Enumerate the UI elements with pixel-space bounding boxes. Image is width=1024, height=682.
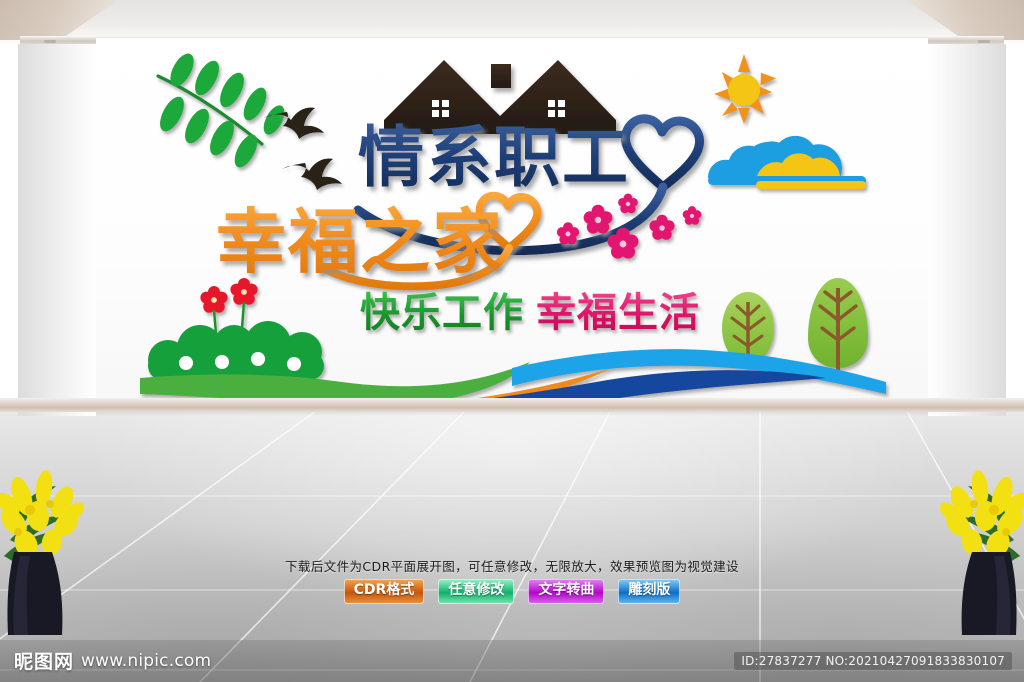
red-flower-icon: [200, 278, 257, 334]
headline-text: 情系职工: [358, 119, 630, 196]
badge-cdr-format[interactable]: CDR格式: [344, 579, 425, 604]
screenshot-stage: 情系职工 幸福之家 快乐工作 幸福生活: [0, 0, 1024, 682]
yellow-flowers: [0, 469, 88, 562]
wall-base-rail: [0, 398, 1024, 412]
badge-engraved[interactable]: 雕刻版: [618, 579, 680, 604]
svg-text:幸福之家: 幸福之家: [216, 201, 504, 283]
flower-vase-left-graphic: [0, 460, 108, 635]
subhead-text: 幸福之家: [216, 201, 504, 283]
yellow-flowers: [936, 469, 1024, 562]
flower-vase-right-graphic: [916, 460, 1024, 635]
rail-fastener: [978, 40, 990, 43]
slogan-pink-text: 幸福生活: [536, 290, 700, 336]
wall-artwork: 情系职工 幸福之家 快乐工作 幸福生活: [96, 38, 928, 410]
leaf-branch-icon: [155, 50, 288, 171]
sun-icon: [714, 54, 776, 124]
site-logo[interactable]: 昵图网 www.nipic.com: [14, 647, 211, 674]
wall-pier-left: [18, 44, 96, 416]
svg-text:快乐工作: 快乐工作: [360, 290, 524, 336]
watermark-bar: 昵图网 www.nipic.com ID:27837277 NO:2021042…: [0, 640, 1024, 682]
svg-text:情系职工: 情系职工: [358, 119, 630, 196]
image-id-label: ID:27837277 NO:20210427091833830107: [734, 652, 1012, 670]
badge-editable[interactable]: 任意修改: [438, 579, 514, 604]
flower-vase: [916, 460, 1024, 640]
badge-text-curves[interactable]: 文字转曲: [528, 579, 604, 604]
rail-fastener: [44, 40, 56, 43]
bush-icon: [148, 321, 324, 380]
tree-icon: [808, 278, 868, 374]
site-url: www.nipic.com: [81, 651, 211, 671]
cloud-icon: [708, 136, 866, 189]
promo-badges: CDR格式 任意修改 文字转曲 雕刻版: [0, 579, 1024, 604]
svg-text:幸福生活: 幸福生活: [536, 290, 700, 336]
wall-pier-right: [928, 44, 1006, 416]
site-logo-cn: 昵图网: [14, 647, 74, 674]
promo-description: 下载后文件为CDR平面展开图，可任意修改，无限放大，效果预览图为视觉建设: [0, 556, 1024, 575]
flower-vase: [0, 460, 108, 640]
slogan-green-text: 快乐工作: [360, 290, 524, 336]
